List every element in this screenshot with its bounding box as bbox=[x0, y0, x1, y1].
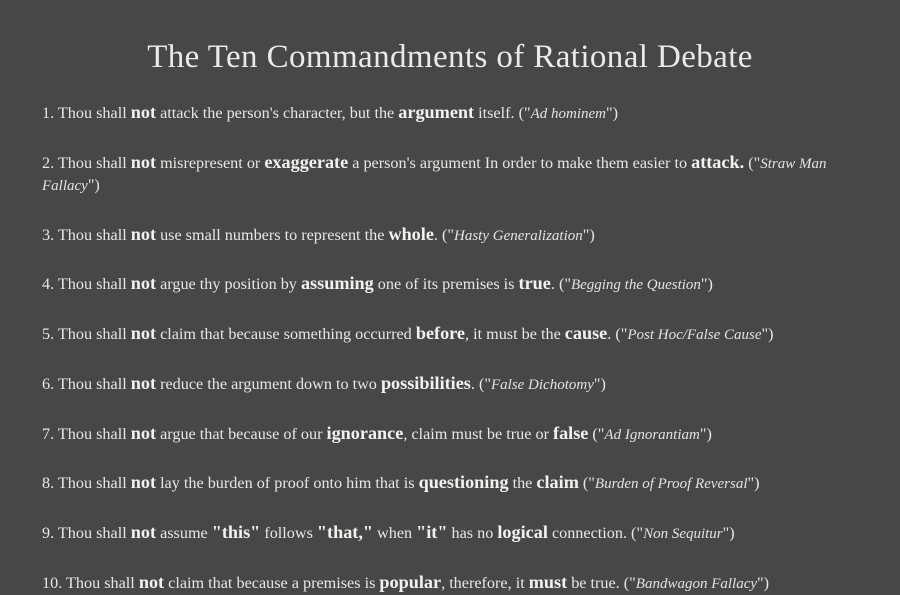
commandment-text: (" bbox=[588, 425, 604, 443]
commandment-text: Thou shall bbox=[58, 425, 131, 443]
emphasis-word: attack. bbox=[691, 152, 744, 172]
commandment-number: 2. bbox=[42, 154, 54, 172]
emphasis-word: claim bbox=[536, 472, 578, 492]
emphasis-word: not bbox=[131, 152, 156, 172]
commandments-list: 1. Thou shall not attack the person's ch… bbox=[42, 100, 862, 595]
page-title: The Ten Commandments of Rational Debate bbox=[0, 22, 900, 78]
emphasis-word: true bbox=[519, 273, 551, 293]
emphasis-word: false bbox=[553, 423, 588, 443]
emphasis-word: not bbox=[131, 102, 156, 122]
emphasis-word: possibilities bbox=[381, 373, 471, 393]
commandment-text: ") bbox=[701, 275, 713, 293]
commandment-item: 6. Thou shall not reduce the argument do… bbox=[42, 371, 862, 396]
emphasis-word: not bbox=[131, 522, 156, 542]
commandment-item: 1. Thou shall not attack the person's ch… bbox=[42, 100, 862, 125]
commandment-text: (" bbox=[744, 154, 760, 172]
emphasis-word: not bbox=[131, 224, 156, 244]
emphasis-word: "this" bbox=[212, 522, 261, 542]
commandment-text: Thou shall bbox=[58, 375, 131, 393]
emphasis-word: cause bbox=[565, 323, 607, 343]
commandment-text: lay the burden of proof onto him that is bbox=[156, 474, 419, 492]
emphasis-word: not bbox=[131, 423, 156, 443]
emphasis-word: not bbox=[131, 273, 156, 293]
commandment-text: Thou shall bbox=[58, 154, 131, 172]
commandment-text: ") bbox=[88, 176, 100, 194]
commandment-text: . (" bbox=[607, 325, 627, 343]
commandment-text: itself. (" bbox=[474, 104, 531, 122]
emphasis-word: must bbox=[529, 572, 567, 592]
commandment-number: 8. bbox=[42, 474, 54, 492]
commandment-text: ") bbox=[594, 375, 606, 393]
commandment-item: 4. Thou shall not argue thy position by … bbox=[42, 271, 862, 296]
commandment-text: a person's argument In order to make the… bbox=[348, 154, 691, 172]
commandment-item: 10. Thou shall not claim that because a … bbox=[42, 570, 862, 595]
emphasis-word: not bbox=[131, 323, 156, 343]
commandment-item: 8. Thou shall not lay the burden of proo… bbox=[42, 470, 862, 495]
emphasis-word: before bbox=[416, 323, 465, 343]
commandment-text: Thou shall bbox=[58, 104, 131, 122]
commandment-text: argue that because of our bbox=[156, 425, 327, 443]
commandment-text: Thou shall bbox=[58, 474, 131, 492]
commandment-number: 6. bbox=[42, 375, 54, 393]
commandment-text: Thou shall bbox=[66, 574, 139, 592]
commandment-text: (" bbox=[579, 474, 595, 492]
fallacy-name: False Dichotomy bbox=[491, 377, 594, 393]
commandment-text: use small numbers to represent the bbox=[156, 226, 388, 244]
commandment-text: ") bbox=[700, 425, 712, 443]
commandment-item: 2. Thou shall not misrepresent or exagge… bbox=[42, 150, 862, 197]
commandment-number: 10. bbox=[42, 574, 62, 592]
fallacy-name: Post Hoc/False Cause bbox=[627, 327, 761, 343]
commandment-text: ") bbox=[761, 325, 773, 343]
commandment-text: reduce the argument down to two bbox=[156, 375, 381, 393]
commandment-text: claim that because something occurred bbox=[156, 325, 416, 343]
emphasis-word: whole bbox=[388, 224, 433, 244]
commandment-text: the bbox=[509, 474, 537, 492]
commandment-text: Thou shall bbox=[58, 325, 131, 343]
fallacy-name: Ad Ignorantiam bbox=[604, 427, 699, 443]
emphasis-word: argument bbox=[398, 102, 474, 122]
commandment-text: claim that because a premises is bbox=[164, 574, 379, 592]
commandment-item: 3. Thou shall not use small numbers to r… bbox=[42, 222, 862, 247]
commandment-text: argue thy position by bbox=[156, 275, 301, 293]
commandment-text: ") bbox=[757, 574, 769, 592]
commandment-text: . (" bbox=[471, 375, 491, 393]
commandment-text: one of its premises is bbox=[374, 275, 519, 293]
emphasis-word: "it" bbox=[416, 522, 447, 542]
commandment-item: 7. Thou shall not argue that because of … bbox=[42, 421, 862, 446]
commandment-text: , it must be the bbox=[465, 325, 565, 343]
emphasis-word: "that," bbox=[317, 522, 373, 542]
commandment-text: , therefore, it bbox=[441, 574, 529, 592]
emphasis-word: exaggerate bbox=[264, 152, 348, 172]
commandment-number: 7. bbox=[42, 425, 54, 443]
commandment-item: 9. Thou shall not assume "this" follows … bbox=[42, 520, 862, 545]
commandment-text: ") bbox=[583, 226, 595, 244]
poster-root: The Ten Commandments of Rational Debate … bbox=[0, 22, 900, 549]
commandment-item: 5. Thou shall not claim that because som… bbox=[42, 321, 862, 346]
commandment-text: Thou shall bbox=[58, 275, 131, 293]
commandment-number: 1. bbox=[42, 104, 54, 122]
fallacy-name: Hasty Generalization bbox=[454, 228, 583, 244]
emphasis-word: not bbox=[131, 373, 156, 393]
commandment-number: 5. bbox=[42, 325, 54, 343]
fallacy-name: Non Sequitur bbox=[643, 526, 723, 542]
commandment-text: attack the person's character, but the bbox=[156, 104, 398, 122]
emphasis-word: popular bbox=[379, 572, 441, 592]
commandment-number: 4. bbox=[42, 275, 54, 293]
commandment-text: ") bbox=[748, 474, 760, 492]
commandment-text: Thou shall bbox=[58, 226, 131, 244]
fallacy-name: Ad hominem bbox=[531, 106, 606, 122]
commandment-text: , claim must be true or bbox=[403, 425, 553, 443]
commandment-number: 3. bbox=[42, 226, 54, 244]
fallacy-name: Begging the Question bbox=[571, 277, 701, 293]
emphasis-word: assuming bbox=[301, 273, 374, 293]
emphasis-word: not bbox=[131, 472, 156, 492]
commandment-text: . (" bbox=[551, 275, 571, 293]
fallacy-name: Bandwagon Fallacy bbox=[636, 576, 757, 592]
fallacy-name: Burden of Proof Reversal bbox=[595, 476, 748, 492]
emphasis-word: questioning bbox=[419, 472, 509, 492]
commandment-text: be true. (" bbox=[567, 574, 636, 592]
commandment-text: misrepresent or bbox=[156, 154, 264, 172]
commandment-text: . (" bbox=[434, 226, 454, 244]
emphasis-word: not bbox=[139, 572, 164, 592]
commandment-text: ") bbox=[606, 104, 618, 122]
emphasis-word: ignorance bbox=[327, 423, 404, 443]
emphasis-word: logical bbox=[497, 522, 548, 542]
